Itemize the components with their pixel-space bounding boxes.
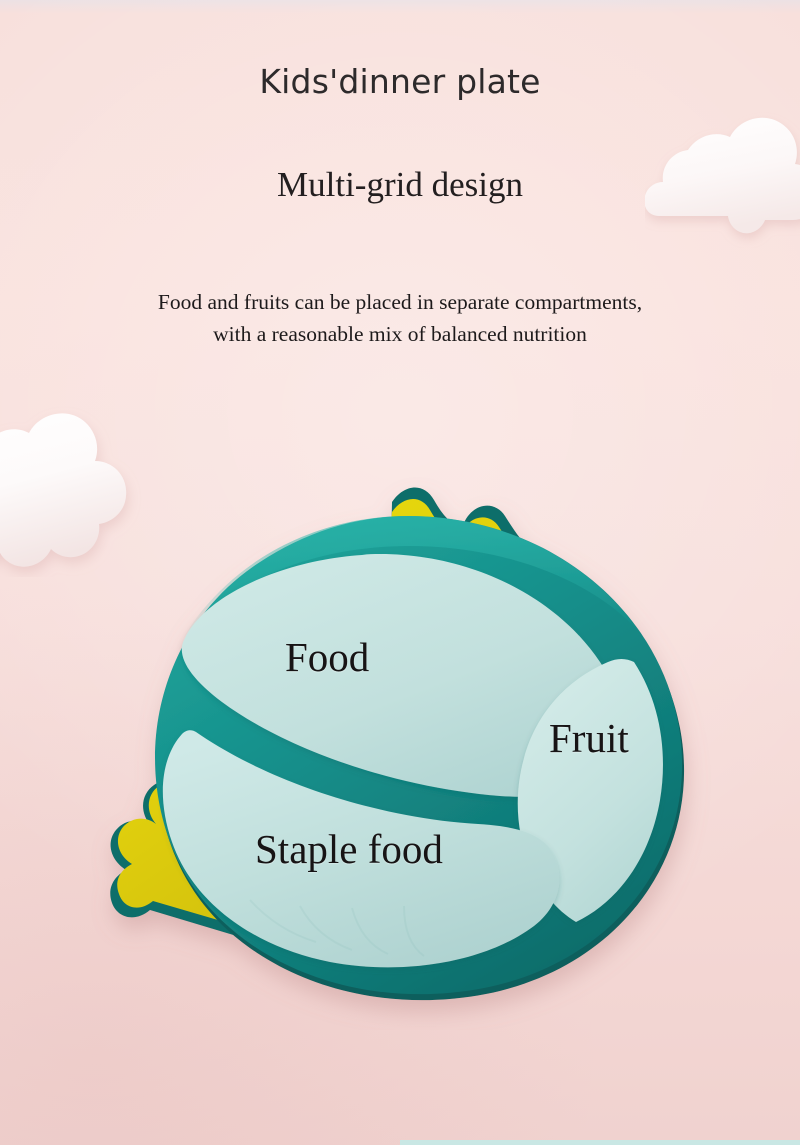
product-plate: Food Fruit Staple food	[0, 470, 800, 1030]
compartment-label-fruit: Fruit	[549, 714, 629, 762]
bottom-accent-strip	[400, 1140, 800, 1145]
compartment-label-staple-food: Staple food	[255, 825, 443, 873]
product-poster: Kids'dinner plate Multi-grid design Food…	[0, 0, 800, 1145]
plate-illustration	[0, 470, 800, 1030]
description-line-1: Food and fruits can be placed in separat…	[0, 286, 800, 318]
description-line-2: with a reasonable mix of balanced nutrit…	[0, 318, 800, 350]
page-description: Food and fruits can be placed in separat…	[0, 286, 800, 350]
page-title: Kids'dinner plate	[0, 62, 800, 101]
page-subtitle: Multi-grid design	[0, 165, 800, 205]
compartment-label-food: Food	[285, 633, 369, 681]
